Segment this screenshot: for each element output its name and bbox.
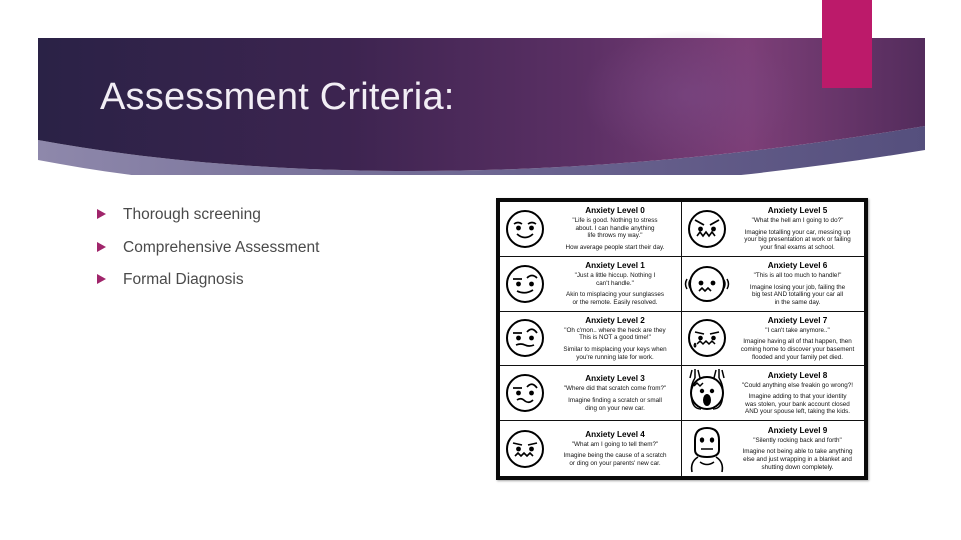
chart-cell-description: How average people start their day. xyxy=(550,244,680,252)
chart-cell-level-4: Anxiety Level 4 "What am I going to tell… xyxy=(500,421,682,476)
chart-cell-description: Imagine losing your job, failing the big… xyxy=(732,284,863,307)
chart-cell-text: Anxiety Level 1 "Just a little hiccup. N… xyxy=(550,259,681,308)
banner-swoosh xyxy=(38,126,925,175)
chart-cell-level-7: Anxiety Level 7 "I can't take anymore.."… xyxy=(682,312,864,367)
chart-cell-text: Anxiety Level 9 "Silently rocking back a… xyxy=(732,424,864,473)
chart-cell-quote: "Silently rocking back and forth" xyxy=(732,437,863,445)
chart-cell-quote: "What am I going to tell them?" xyxy=(550,441,680,449)
chart-cell-title: Anxiety Level 3 xyxy=(550,374,680,384)
chart-cell-quote: "What the hell am I going to do?" xyxy=(732,217,863,225)
banner-glow xyxy=(580,30,800,160)
chart-cell-title: Anxiety Level 6 xyxy=(732,261,863,271)
chart-cell-title: Anxiety Level 8 xyxy=(732,371,863,381)
shaking-face-icon xyxy=(682,257,732,311)
chart-cell-description: Akin to misplacing your sunglasses or th… xyxy=(550,291,680,306)
chart-cell-quote: "This is all too much to handle!" xyxy=(732,272,863,280)
page-title: Assessment Criteria: xyxy=(100,76,455,119)
angry-gritted-face-icon xyxy=(682,202,732,256)
crying-wavy-face-icon xyxy=(682,312,732,366)
magenta-accent-bar xyxy=(822,0,872,88)
chart-cell-quote: "I can't take anymore.." xyxy=(732,327,863,335)
chart-cell-text: Anxiety Level 5 "What the hell am I goin… xyxy=(732,204,864,253)
bullet-list: Thorough screening Comprehensive Assessm… xyxy=(96,205,466,303)
chart-cell-title: Anxiety Level 4 xyxy=(550,430,680,440)
chart-cell-quote: "Oh c'mon.. where the heck are they This… xyxy=(550,327,680,342)
chart-cell-text: Anxiety Level 4 "What am I going to tell… xyxy=(550,428,681,470)
uneasy-face-icon xyxy=(500,366,550,420)
chart-cell-text: Anxiety Level 0 "Life is good. Nothing t… xyxy=(550,204,681,253)
list-item[interactable]: Formal Diagnosis xyxy=(96,270,466,292)
triangle-bullet-icon xyxy=(96,242,109,255)
anxiety-chart-grid: Anxiety Level 0 "Life is good. Nothing t… xyxy=(500,202,864,476)
list-item-label: Formal Diagnosis xyxy=(123,270,244,290)
chart-cell-level-9: Anxiety Level 9 "Silently rocking back a… xyxy=(682,421,864,476)
chart-cell-description: Imagine finding a scratch or small ding … xyxy=(550,397,680,412)
chart-cell-title: Anxiety Level 0 xyxy=(550,206,680,216)
chart-cell-text: Anxiety Level 6 "This is all too much to… xyxy=(732,259,864,308)
chart-cell-title: Anxiety Level 2 xyxy=(550,316,680,326)
anxiety-level-chart-image: Anxiety Level 0 "Life is good. Nothing t… xyxy=(496,198,868,480)
chart-cell-description: Imagine being the cause of a scratch or … xyxy=(550,452,680,467)
chart-cell-quote: "Just a little hiccup. Nothing I can't h… xyxy=(550,272,680,287)
smiling-face-icon xyxy=(500,202,550,256)
chart-cell-text: Anxiety Level 8 "Could anything else fre… xyxy=(732,369,864,418)
chart-cell-quote: "Could anything else freakin go wrong?! xyxy=(732,382,863,390)
chart-cell-level-5: Anxiety Level 5 "What the hell am I goin… xyxy=(682,202,864,257)
chart-cell-quote: "Where did that scratch come from?" xyxy=(550,385,680,393)
list-item[interactable]: Thorough screening xyxy=(96,205,466,227)
chart-cell-title: Anxiety Level 5 xyxy=(732,206,863,216)
chart-cell-text: Anxiety Level 7 "I can't take anymore.."… xyxy=(732,314,864,363)
chart-cell-level-0: Anxiety Level 0 "Life is good. Nothing t… xyxy=(500,202,682,257)
triangle-bullet-icon xyxy=(96,274,109,287)
chart-cell-level-3: Anxiety Level 3 "Where did that scratch … xyxy=(500,366,682,421)
chart-cell-description: Imagine not being able to take anything … xyxy=(732,448,863,471)
chart-cell-quote: "Life is good. Nothing to stress about. … xyxy=(550,217,680,240)
chart-cell-description: Imagine having all of that happen, then … xyxy=(732,338,863,361)
list-item-label: Comprehensive Assessment xyxy=(123,238,319,258)
list-item[interactable]: Comprehensive Assessment xyxy=(96,238,466,260)
chart-cell-description: Similar to misplacing your keys when you… xyxy=(550,346,680,361)
chart-cell-description: Imagine totalling your car, messing up y… xyxy=(732,229,863,252)
worried-flat-face-icon xyxy=(500,312,550,366)
chart-cell-level-6: Anxiety Level 6 "This is all too much to… xyxy=(682,257,864,312)
chart-cell-text: Anxiety Level 2 "Oh c'mon.. where the he… xyxy=(550,314,681,363)
blank-rocking-face-icon xyxy=(682,421,732,476)
chart-cell-text: Anxiety Level 3 "Where did that scratch … xyxy=(550,372,681,414)
screaming-hands-up-face-icon xyxy=(682,366,732,420)
chart-cell-title: Anxiety Level 1 xyxy=(550,261,680,271)
nervous-zigzag-face-icon xyxy=(500,421,550,476)
chart-cell-title: Anxiety Level 7 xyxy=(732,316,863,326)
chart-cell-title: Anxiety Level 9 xyxy=(732,426,863,436)
slide-canvas: Assessment Criteria: Thorough screening … xyxy=(0,0,961,540)
chart-cell-description: Imagine adding to that your identity was… xyxy=(732,393,863,416)
list-item-label: Thorough screening xyxy=(123,205,261,225)
chart-cell-level-2: Anxiety Level 2 "Oh c'mon.. where the he… xyxy=(500,312,682,367)
triangle-bullet-icon xyxy=(96,209,109,222)
chart-cell-level-1: Anxiety Level 1 "Just a little hiccup. N… xyxy=(500,257,682,312)
chart-cell-level-8: Anxiety Level 8 "Could anything else fre… xyxy=(682,366,864,421)
raised-eyebrow-face-icon xyxy=(500,257,550,311)
